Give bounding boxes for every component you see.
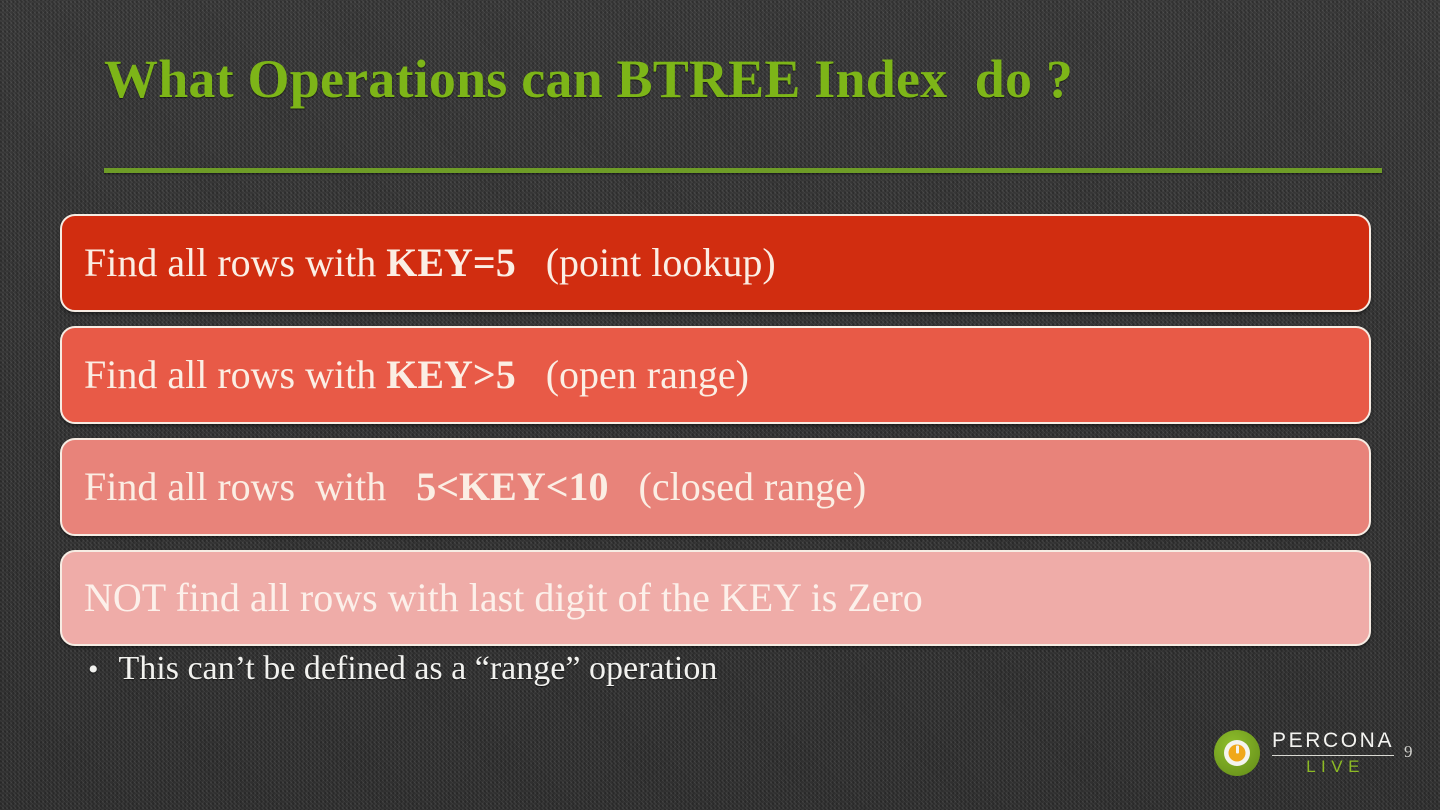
bar-3-key-expression: 5<KEY<10 (416, 467, 608, 507)
logo-brand-text: PERCONA (1272, 730, 1394, 752)
slide-page-number: 9 (1404, 742, 1413, 762)
bar-1-key-expression: KEY=5 (386, 243, 515, 283)
percona-power-icon (1214, 730, 1260, 776)
logo-divider (1272, 755, 1394, 756)
bar-2-note-text: (open range) (516, 355, 749, 395)
bar-3-note-text: (closed range) (609, 467, 867, 507)
bar-3-lead-text: Find all rows with (84, 467, 416, 507)
slide-canvas: What Operations can BTREE Index do ? Fin… (0, 0, 1440, 810)
bar-2-key-expression: KEY>5 (386, 355, 515, 395)
bar-1-note-text: (point lookup) (516, 243, 776, 283)
operation-bar-point-lookup: Find all rows with KEY=5 (point lookup) (60, 214, 1371, 312)
bar-4-lead-text: NOT find all rows with last digit of the… (84, 578, 923, 618)
page-title: What Operations can BTREE Index do ? (104, 48, 1354, 112)
percona-live-logo: PERCONA LIVE (1214, 722, 1386, 784)
logo-sub-text: LIVE (1301, 758, 1365, 776)
bar-1-lead-text: Find all rows with (84, 243, 386, 283)
operation-bar-closed-range: Find all rows with 5<KEY<10 (closed rang… (60, 438, 1371, 536)
bullet-list-item: • This can’t be defined as a “range” ope… (88, 650, 717, 688)
title-underline-rule (104, 168, 1382, 173)
bullet-text: This can’t be defined as a “range” opera… (119, 650, 718, 688)
bullet-marker-icon: • (88, 655, 99, 685)
title-block: What Operations can BTREE Index do ? (104, 48, 1354, 112)
operation-bar-open-range: Find all rows with KEY>5 (open range) (60, 326, 1371, 424)
power-icon-glyph (1229, 745, 1246, 762)
bar-2-lead-text: Find all rows with (84, 355, 386, 395)
operation-bar-not-supported: NOT find all rows with last digit of the… (60, 550, 1371, 646)
logo-wordmark: PERCONA LIVE (1272, 730, 1394, 776)
